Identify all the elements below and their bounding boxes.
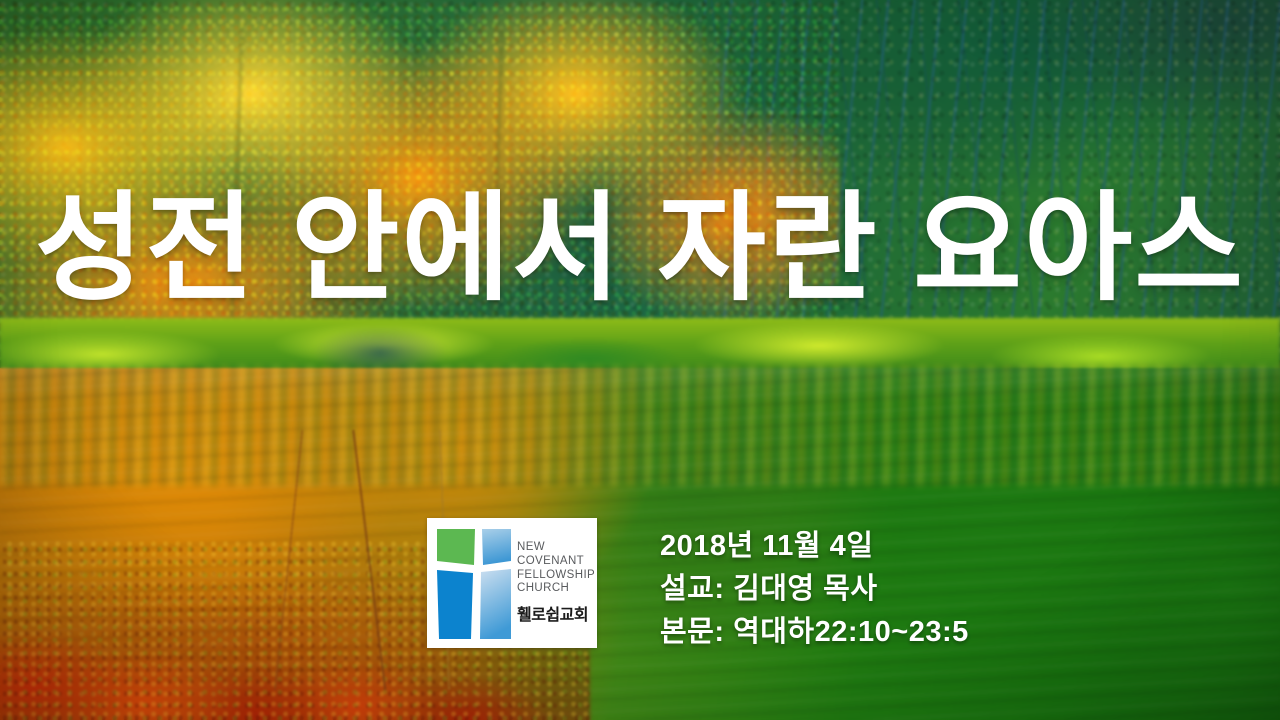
logo-en-line-2: COVENANT bbox=[517, 555, 595, 569]
logo-english-name: NEW COVENANT FELLOWSHIP CHURCH bbox=[517, 541, 595, 596]
service-date: 2018년 11월 4일 bbox=[660, 525, 969, 568]
cross-logo-mark bbox=[435, 525, 513, 642]
background-photo-autumn-lake bbox=[0, 0, 1280, 720]
service-info-block: 2018년 11월 4일 설교: 김대영 목사 본문: 역대하22:10~23:… bbox=[660, 525, 969, 654]
sermon-title-slide: 성전 안에서 자란 요아스 bbox=[0, 0, 1280, 720]
service-scripture: 본문: 역대하22:10~23:5 bbox=[660, 611, 969, 654]
logo-en-line-1: NEW bbox=[517, 541, 595, 555]
logo-en-line-3: FELLOWSHIP bbox=[517, 569, 595, 583]
logo-text-block: NEW COVENANT FELLOWSHIP CHURCH 휄로쉽교회 bbox=[513, 518, 600, 648]
sermon-title: 성전 안에서 자란 요아스 bbox=[0, 186, 1280, 313]
photo-vignette-layer bbox=[0, 0, 1280, 720]
logo-korean-name: 휄로쉽교회 bbox=[517, 601, 595, 625]
church-logo-card: NEW COVENANT FELLOWSHIP CHURCH 휄로쉽교회 bbox=[427, 518, 597, 648]
logo-en-line-4: CHURCH bbox=[517, 582, 595, 596]
service-preacher: 설교: 김대영 목사 bbox=[660, 568, 969, 611]
